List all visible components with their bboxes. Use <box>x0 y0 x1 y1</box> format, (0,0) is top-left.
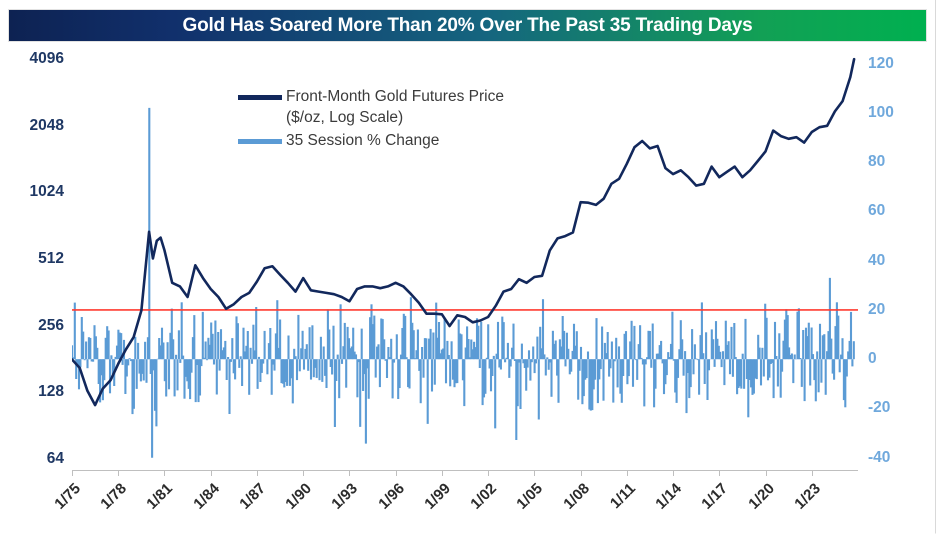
x-axis-tick-label: 1/20 <box>734 480 777 523</box>
x-axis-tick <box>627 470 628 476</box>
x-axis-tick-label: 1/84 <box>180 480 223 523</box>
x-axis-tick <box>581 470 582 476</box>
plot-wrapper: 40962048102451225612864 120100806040200-… <box>0 44 936 534</box>
x-axis-tick-label: 1/08 <box>549 480 592 523</box>
x-axis-tick-label: 1/96 <box>365 480 408 523</box>
x-axis-tick <box>442 470 443 476</box>
legend-line-swatch-icon <box>238 139 282 144</box>
x-axis-tick <box>673 470 674 476</box>
x-axis-tick <box>812 470 813 476</box>
x-axis-tick <box>396 470 397 476</box>
x-axis-tick-label: 1/78 <box>87 480 130 523</box>
page-title: Gold Has Soared More Than 20% Over The P… <box>182 15 752 37</box>
x-axis-tick-label: 1/11 <box>596 480 639 523</box>
x-axis-tick-label: 1/23 <box>781 480 824 523</box>
x-axis-tick <box>211 470 212 476</box>
x-axis-tick-label: 1/75 <box>41 480 84 523</box>
x-axis-tick <box>349 470 350 476</box>
x-axis-tick-label: 1/14 <box>642 480 685 523</box>
x-axis-tick <box>164 470 165 476</box>
legend-line-swatch-icon <box>238 95 282 100</box>
chart-legend: Front-Month Gold Futures Price ($/oz, Lo… <box>238 86 558 153</box>
x-axis-tick <box>72 470 73 476</box>
x-axis-tick-label: 1/87 <box>226 480 269 523</box>
x-axis-tick <box>534 470 535 476</box>
chart-screenshot: Gold Has Soared More Than 20% Over The P… <box>0 0 936 534</box>
legend-item-label: 35 Session % Change <box>286 130 439 151</box>
chart-title-bar: Gold Has Soared More Than 20% Over The P… <box>8 9 927 42</box>
x-axis-tick-label: 1/02 <box>457 480 500 523</box>
x-axis-tick-label: 1/17 <box>688 480 731 523</box>
legend-item-gold-price: Front-Month Gold Futures Price ($/oz, Lo… <box>238 86 558 128</box>
x-axis-tick-label: 1/99 <box>411 480 454 523</box>
x-axis-tick <box>719 470 720 476</box>
x-axis-tick-label: 1/90 <box>272 480 315 523</box>
x-axis-tick-label: 1/05 <box>503 480 546 523</box>
legend-item-label: Front-Month Gold Futures Price ($/oz, Lo… <box>286 86 504 128</box>
x-axis-tick-label: 1/93 <box>318 480 361 523</box>
x-axis-tick-label: 1/81 <box>133 480 176 523</box>
x-axis-tick <box>118 470 119 476</box>
legend-item-35-session-change: 35 Session % Change <box>238 130 558 151</box>
x-axis-tick <box>303 470 304 476</box>
x-axis-tick <box>766 470 767 476</box>
x-axis-tick <box>488 470 489 476</box>
x-axis-tick <box>257 470 258 476</box>
